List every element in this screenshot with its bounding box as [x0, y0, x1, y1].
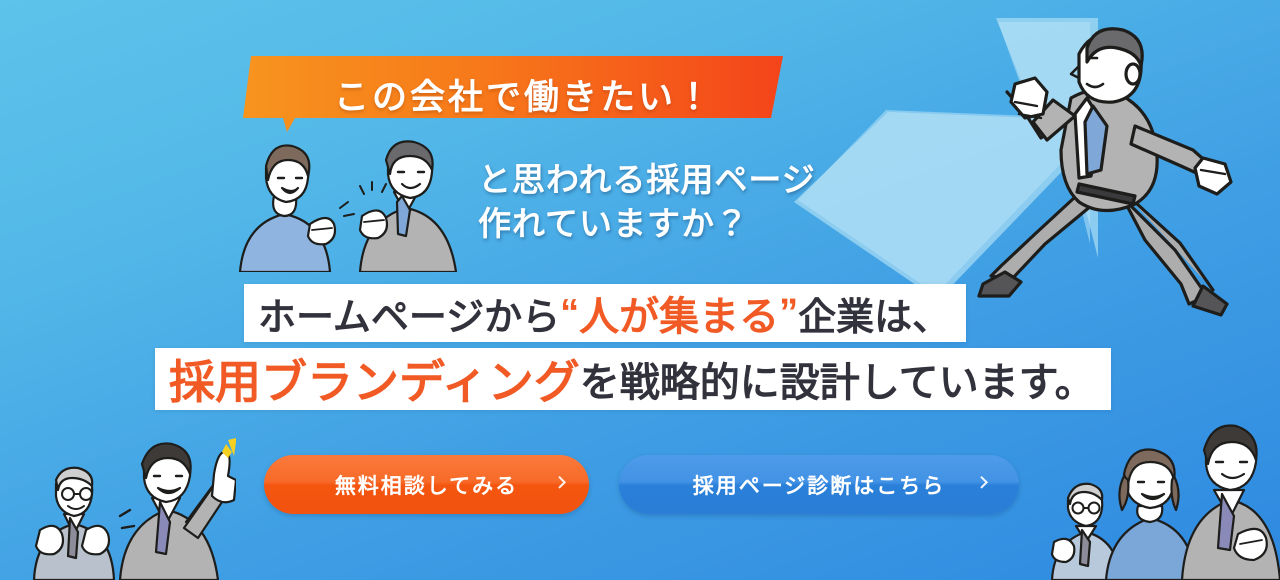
- headline-line1-quote-close: ”: [779, 292, 798, 335]
- speech-bubble-text: この会社で働きたい！: [243, 56, 783, 132]
- hero-banner: この会社で働きたい！ と思われる採用ページ 作れていますか？ ホームページから …: [0, 0, 1280, 580]
- headline-plate-line-2: 採用ブランディング を戦略的に設計しています。: [155, 348, 1111, 410]
- running-businessman-illustration: [975, 18, 1245, 318]
- sub-copy-line-1: と思われる採用ページ: [478, 158, 816, 202]
- cta-button-row: 無料相談してみる 採用ページ診断はこちら: [264, 455, 1019, 514]
- headline-line1-accent: 人が集まる: [579, 284, 779, 342]
- headline-plate-line-1: ホームページから “ 人が集まる ” 企業は、: [244, 284, 966, 342]
- headline-line1-part2: 企業は、: [798, 286, 950, 341]
- confident-team-illustration: [1046, 418, 1280, 580]
- page-diagnosis-button[interactable]: 採用ページ診断はこちら: [619, 455, 1019, 514]
- headline-line1-part1: ホームページから: [258, 286, 560, 341]
- page-diagnosis-button-label: 採用ページ診断はこちら: [693, 470, 946, 500]
- free-consultation-button-label: 無料相談してみる: [335, 470, 518, 500]
- sub-copy: と思われる採用ページ 作れていますか？: [478, 158, 816, 246]
- pointing-businessmen-illustration: [0, 418, 236, 580]
- headline-line1-quote-open: “: [560, 292, 579, 335]
- speech-bubble: この会社で働きたい！: [243, 56, 783, 132]
- headline-line2-part2: を戦略的に設計しています。: [580, 350, 1095, 408]
- chevron-right-icon: [975, 475, 988, 488]
- free-consultation-button[interactable]: 無料相談してみる: [264, 455, 589, 514]
- chevron-right-icon: [553, 475, 566, 488]
- sub-copy-line-2: 作れていますか？: [478, 202, 816, 246]
- background-arrow-icon: [768, 0, 1098, 310]
- cheering-pair-illustration: [234, 140, 474, 272]
- headline-line2-accent: 採用ブランディング: [169, 346, 580, 412]
